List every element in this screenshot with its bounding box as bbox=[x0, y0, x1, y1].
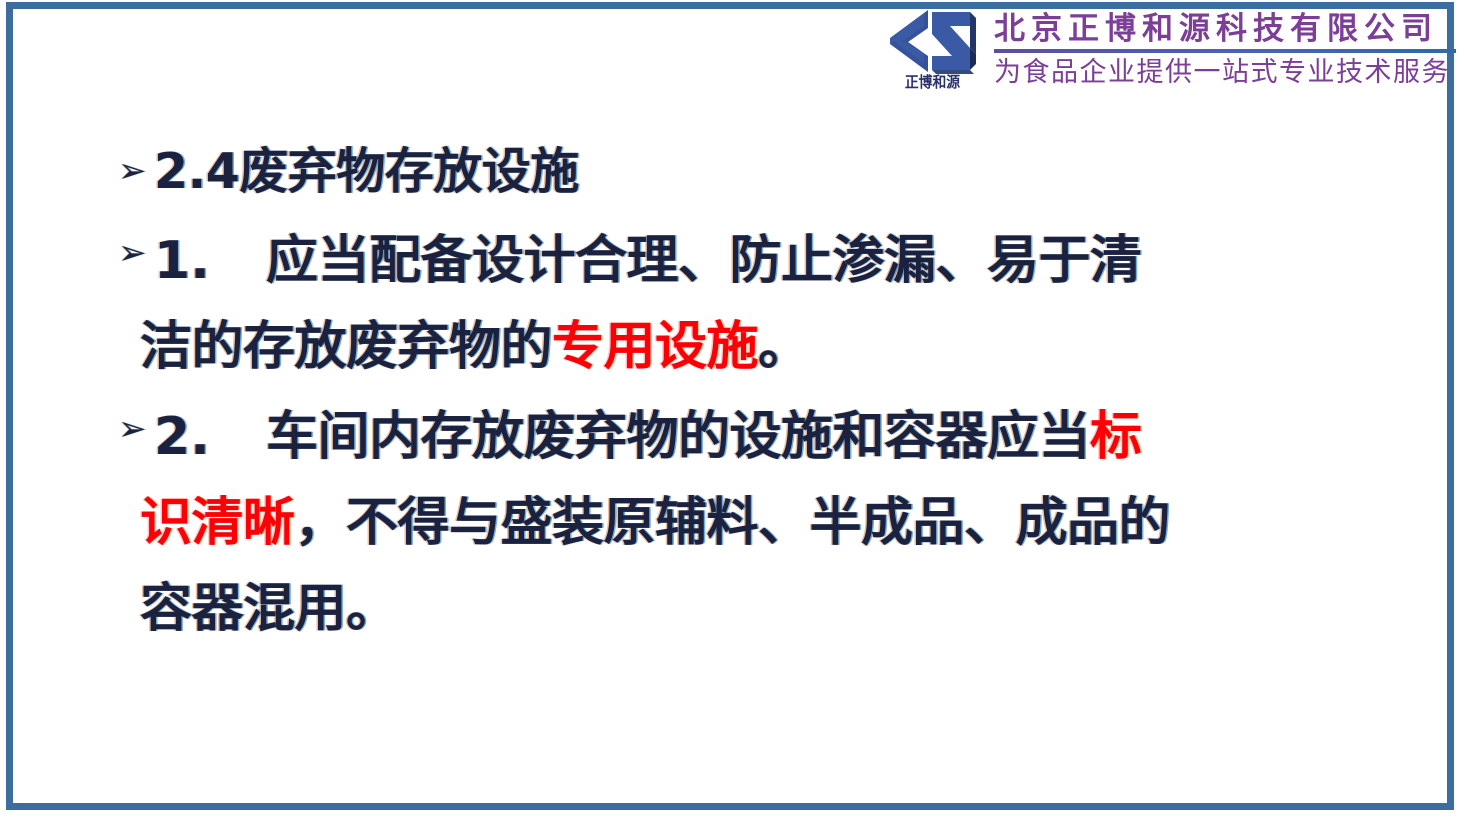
list-item-line: 洁的存放废弃物的专用设施。 bbox=[118, 304, 1368, 390]
header-divider bbox=[994, 49, 1456, 53]
list-item-text: 容器混用。 bbox=[140, 579, 398, 639]
highlighted-text: 标 bbox=[1090, 407, 1142, 467]
list-item-line: 1.应当配备设计合理、防止渗漏、易于清 bbox=[118, 218, 1368, 304]
slide-canvas: 正博和源 北京正博和源科技有限公司 为食品企业提供一站式专业技术服务 ➢ 2.4… bbox=[0, 0, 1466, 824]
highlighted-text: 识清晰 bbox=[140, 493, 295, 553]
bullet-arrow-icon: ➢ bbox=[118, 412, 152, 446]
company-name: 北京正博和源科技有限公司 bbox=[994, 10, 1456, 48]
company-tagline: 为食品企业提供一站式专业技术服务 bbox=[994, 54, 1456, 92]
company-logo: 正博和源 bbox=[886, 6, 986, 108]
bullet-arrow-icon: ➢ bbox=[118, 236, 152, 270]
bullet-arrow-icon: ➢ bbox=[118, 154, 152, 188]
list-item-text: 应当配备设计合理、防止渗漏、易于清 bbox=[266, 231, 1142, 291]
list-item-line: 识清晰，不得与盛装原辅料、半成品、成品的 bbox=[118, 480, 1368, 566]
section-heading-text: 2.4废弃物存放设施 bbox=[118, 140, 1368, 204]
list-item: ➢ 1.应当配备设计合理、防止渗漏、易于清 洁的存放废弃物的专用设施。 bbox=[118, 218, 1368, 390]
slide-content: ➢ 2.4废弃物存放设施 ➢ 1.应当配备设计合理、防止渗漏、易于清 洁的存放废… bbox=[118, 140, 1368, 656]
list-item-number: 2. bbox=[154, 407, 210, 467]
highlighted-text: 专用设施 bbox=[552, 317, 758, 377]
list-item-number: 1. bbox=[154, 231, 210, 291]
list-item-text: 车间内存放废弃物的设施和容器应当 bbox=[266, 407, 1090, 467]
company-header-text: 北京正博和源科技有限公司 为食品企业提供一站式专业技术服务 bbox=[986, 6, 1456, 92]
list-item-line: 容器混用。 bbox=[118, 566, 1368, 652]
list-item-text: 。 bbox=[758, 317, 810, 377]
company-header: 正博和源 北京正博和源科技有限公司 为食品企业提供一站式专业技术服务 bbox=[886, 6, 1456, 110]
list-item-text: ，不得与盛装原辅料、半成品、成品的 bbox=[295, 493, 1171, 553]
list-item: ➢ 2.车间内存放废弃物的设施和容器应当标 识清晰，不得与盛装原辅料、半成品、成… bbox=[118, 394, 1368, 652]
company-logo-icon bbox=[888, 8, 982, 74]
list-item-line: 2.车间内存放废弃物的设施和容器应当标 bbox=[118, 394, 1368, 480]
logo-wordmark: 正博和源 bbox=[892, 74, 973, 91]
section-heading: ➢ 2.4废弃物存放设施 bbox=[118, 140, 1368, 204]
list-item-text: 洁的存放废弃物的 bbox=[140, 317, 552, 377]
